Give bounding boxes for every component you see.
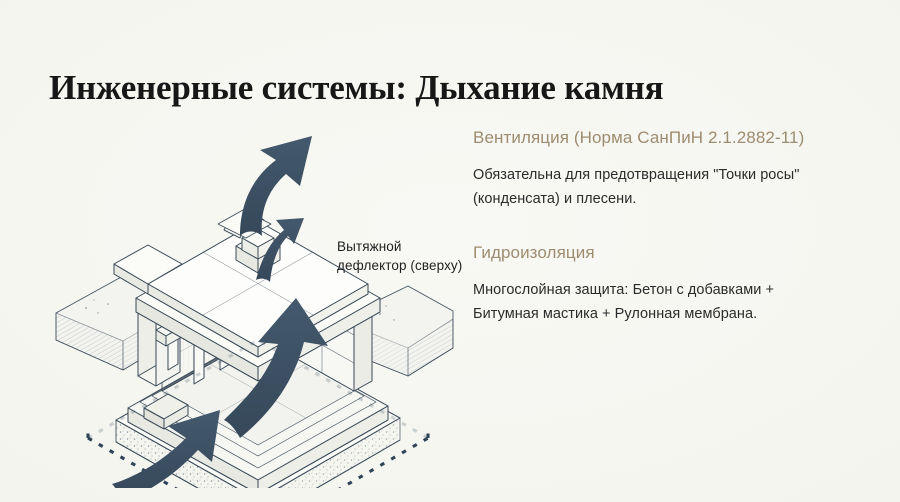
info-block-waterproofing: Гидроизоляция Многослойная защита: Бетон… bbox=[473, 241, 865, 326]
info-block-ventilation: Вентиляция (Норма СанПиН 2.1.2882-11) Об… bbox=[473, 126, 865, 211]
info-body-line: Многослойная защита: Бетон с добавками + bbox=[473, 278, 865, 302]
diagram-svg bbox=[28, 108, 478, 488]
info-body-ventilation: Обязательна для предотвращения "Точки ро… bbox=[473, 163, 865, 211]
page-title: Инженерные системы: Дыхание камня bbox=[49, 67, 849, 109]
info-body-line: Битумная мастика + Рулонная мембрана. bbox=[473, 302, 865, 326]
info-body-line: Обязательна для предотвращения "Точки ро… bbox=[473, 163, 865, 187]
callout-line: дефлектор (сверху) bbox=[337, 257, 462, 276]
info-body-waterproofing: Многослойная защита: Бетон с добавками +… bbox=[473, 278, 865, 326]
callout-exhaust-deflector: Вытяжной дефлектор (сверху) bbox=[337, 238, 462, 275]
ventilation-diagram: Вытяжной дефлектор (сверху) Приток возду… bbox=[28, 108, 478, 488]
callout-line: Вытяжной bbox=[337, 238, 462, 257]
info-column: Вентиляция (Норма СанПиН 2.1.2882-11) Об… bbox=[473, 126, 865, 326]
info-body-line: (конденсата) и плесени. bbox=[473, 187, 865, 211]
info-heading-waterproofing: Гидроизоляция bbox=[473, 241, 865, 265]
slide-root: Инженерные системы: Дыхание камня bbox=[0, 0, 900, 502]
info-heading-ventilation: Вентиляция (Норма СанПиН 2.1.2882-11) bbox=[473, 126, 865, 150]
